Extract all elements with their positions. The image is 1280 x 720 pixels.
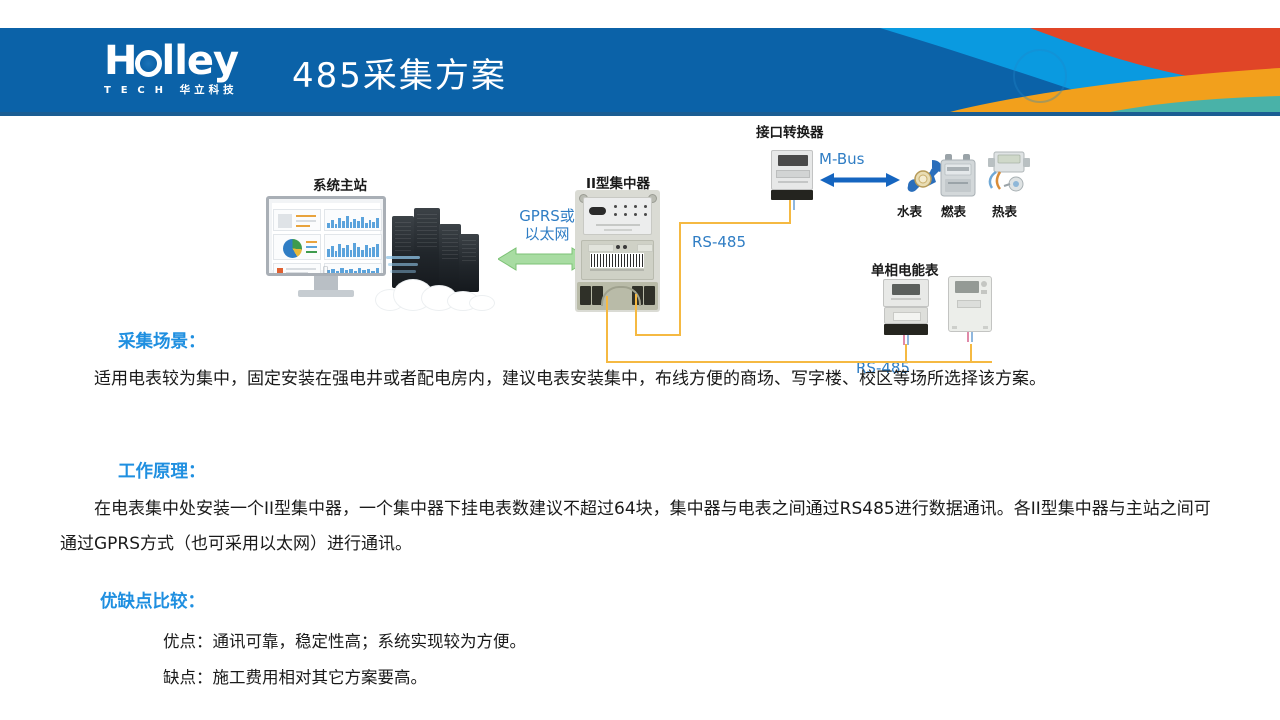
link-label-gprs: GPRS或 以太网 — [509, 207, 585, 243]
label-master-station: 系统主站 — [313, 174, 367, 194]
label-single-phase-meter: 单相电能表 — [871, 259, 939, 279]
logo-sub-cn: 华立科技 — [180, 84, 238, 96]
bus-segment — [905, 344, 907, 362]
bus-segment — [606, 296, 608, 362]
link-label-mbus: M-Bus — [819, 150, 864, 168]
section-heading-scenario: 采集场景： — [118, 328, 206, 353]
label-heat-meter: 热表 — [992, 201, 1017, 220]
logo-rest: lley — [161, 38, 238, 84]
comparison-pros: 优点：通讯可靠，稳定性高；系统实现较为方便。 — [163, 626, 526, 658]
bus-segment — [789, 200, 791, 224]
cloud-graphic — [374, 274, 498, 310]
label-converter: 接口转换器 — [756, 121, 824, 141]
concentrator-barcode — [590, 253, 644, 268]
master-station-monitor:  — [266, 196, 386, 306]
bus-segment — [679, 222, 681, 336]
single-phase-meter-a — [883, 279, 929, 337]
converter-label-band — [776, 170, 810, 178]
bar-chart — [327, 242, 379, 257]
converter-body — [771, 150, 813, 190]
dashboard — [272, 203, 380, 270]
concentrator-terminal-block — [577, 282, 658, 310]
logo-subtitle: T E C H 华立科技 — [104, 82, 256, 97]
holley-logo: Hlley T E C H 华立科技 — [104, 44, 256, 96]
section-body-principle: 在电表集中处安装一个II型集中器，一个集中器下挂电表数建议不超过64块，集中器与… — [60, 492, 1220, 562]
logo-h: H — [104, 38, 136, 84]
gas-meter-icon — [937, 152, 979, 198]
concentrator-display — [589, 207, 606, 215]
bus-segment — [635, 294, 637, 336]
gprs-line1: GPRS或 — [519, 207, 575, 225]
bar-chart — [327, 216, 379, 228]
mbus-bidirectional-arrow — [820, 172, 900, 188]
dashboard-card — [273, 209, 321, 231]
converter-display — [778, 155, 808, 166]
concentrator-device — [575, 190, 660, 312]
logo-sub-en: T E C H — [104, 85, 166, 96]
dashboard-card — [324, 234, 382, 260]
page-title: 485采集方案 — [292, 48, 507, 97]
logo-wordmark: Hlley — [104, 44, 256, 78]
heat-meter-icon — [982, 150, 1034, 198]
label-water-meter: 水表 — [897, 201, 922, 220]
dashboard-card — [273, 234, 321, 260]
comparison-cons: 缺点：施工费用相对其它方案要高。 — [163, 662, 427, 694]
section-heading-principle: 工作原理： — [118, 458, 206, 483]
bus-segment — [970, 344, 972, 362]
link-label-rs485-upper: RS-485 — [692, 233, 746, 251]
dashboard-card — [273, 263, 321, 276]
section-body-scenario: 适用电表较为集中，固定安装在强电井或者配电房内，建议电表安装集中，布线方便的商场… — [60, 362, 1220, 397]
logo-o-ring — [135, 50, 162, 77]
label-gas-meter: 燃表 — [941, 201, 966, 220]
gprs-line2: 以太网 — [524, 225, 569, 243]
interface-converter-device — [771, 150, 813, 202]
monitor-stand-neck — [314, 276, 338, 290]
bus-segment — [679, 222, 791, 224]
bus-segment — [635, 334, 681, 336]
concentrator-top-panel — [583, 197, 652, 235]
monitor-screen — [266, 196, 386, 276]
bar-chart — [327, 267, 379, 273]
monitor-stand-base — [298, 290, 354, 297]
concentrator-middle-panel — [581, 240, 654, 280]
label-concentrator: II型集中器 — [586, 172, 650, 192]
pie-chart — [283, 239, 302, 258]
converter-terminal-block — [771, 190, 813, 200]
apple-logo-icon:  — [323, 265, 328, 274]
single-phase-meter-b — [948, 276, 992, 337]
section-heading-comparison: 优缺点比较： — [100, 588, 205, 613]
dashboard-card — [324, 209, 382, 231]
